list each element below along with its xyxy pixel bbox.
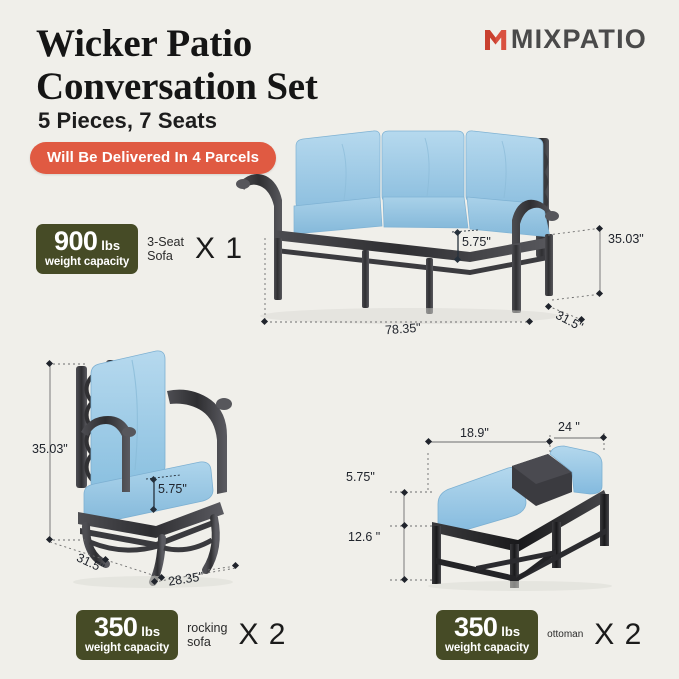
- rocking-sofa-capacity-group: 350 lbs weight capacity rocking sofa X 2: [76, 610, 286, 660]
- sofa-capacity-unit: lbs: [101, 239, 120, 252]
- rocking-sofa-weight-capacity-badge: 350 lbs weight capacity: [76, 610, 178, 660]
- ottoman-weight-capacity-badge: 350 lbs weight capacity: [436, 610, 538, 660]
- chair-seat-thickness-label: 5.75": [158, 482, 187, 496]
- rocking-sofa-name-line-2: sofa: [187, 635, 227, 649]
- page-title: Wicker Patio Conversation Set: [36, 22, 466, 108]
- title-line-2: Conversation Set: [36, 65, 466, 108]
- sofa-frame-rails: [274, 230, 552, 275]
- title-line-1: Wicker Patio: [36, 22, 466, 65]
- m-monogram-icon: [483, 27, 509, 53]
- ottoman-drawing: [360, 430, 640, 590]
- product-infographic: Wicker Patio Conversation Set 5 Pieces, …: [0, 0, 679, 679]
- ottoman-capacity-caption: weight capacity: [445, 643, 529, 655]
- sofa-weight-capacity-badge: 900 lbs weight capacity: [36, 224, 138, 274]
- sofa-quantity: X 1: [195, 232, 243, 266]
- ottoman-cushion-thickness-label: 5.75": [346, 470, 375, 484]
- ottoman-width-label: 18.9": [460, 426, 489, 440]
- rocking-sofa-illustration: 35.03" 31.5" 28.35" 5.75": [28, 342, 318, 592]
- sofa-capacity-caption: weight capacity: [45, 257, 129, 269]
- rocking-sofa-quantity: X 2: [238, 618, 286, 652]
- ottoman-name-line-1: ottoman: [547, 628, 583, 642]
- rocking-sofa-capacity-caption: weight capacity: [85, 643, 169, 655]
- ottoman-quantity: X 2: [594, 618, 642, 652]
- sofa-capacity-group: 900 lbs weight capacity 3-Seat Sofa X 1: [36, 224, 243, 274]
- ottoman-frame-height-label: 12.6 ": [348, 530, 380, 544]
- page-subtitle: 5 Pieces, 7 Seats: [38, 108, 217, 134]
- sofa-height-label: 35.03": [608, 232, 644, 246]
- sofa-illustration: 78.35" 31.5" 35.03" 5.75": [230, 110, 679, 355]
- sofa-seat-cushions: [294, 197, 550, 237]
- rocking-sofa-product-name: rocking sofa: [187, 621, 227, 649]
- ottoman-capacity-value: 350: [454, 614, 497, 641]
- sofa-capacity-value: 900: [54, 228, 97, 255]
- rocking-sofa-name-line-1: rocking: [187, 621, 227, 635]
- sofa-name-line-1: 3-Seat: [147, 235, 184, 249]
- chair-height-label: 35.03": [32, 442, 68, 456]
- ottoman-depth-label: 24 ": [558, 420, 580, 434]
- ottoman-product-name: ottoman: [547, 628, 583, 642]
- rocking-sofa-capacity-value: 350: [94, 614, 137, 641]
- sofa-width-label: 78.35": [385, 321, 422, 337]
- sofa-name-line-2: Sofa: [147, 249, 184, 263]
- rocking-sofa-capacity-unit: lbs: [141, 625, 160, 638]
- ottoman-illustration: 18.9" 24 " 5.75" 12.6 ": [360, 430, 640, 590]
- brand-logo-text: MIXPATIO: [511, 24, 647, 55]
- sofa-product-name: 3-Seat Sofa: [147, 235, 184, 263]
- brand-logo: MIXPATIO: [483, 24, 647, 55]
- ottoman-capacity-unit: lbs: [501, 625, 520, 638]
- ottoman-capacity-group: 350 lbs weight capacity ottoman X 2: [436, 610, 642, 660]
- rocking-sofa-drawing: [28, 342, 318, 592]
- sofa-seat-thickness-label: 5.75": [462, 235, 491, 249]
